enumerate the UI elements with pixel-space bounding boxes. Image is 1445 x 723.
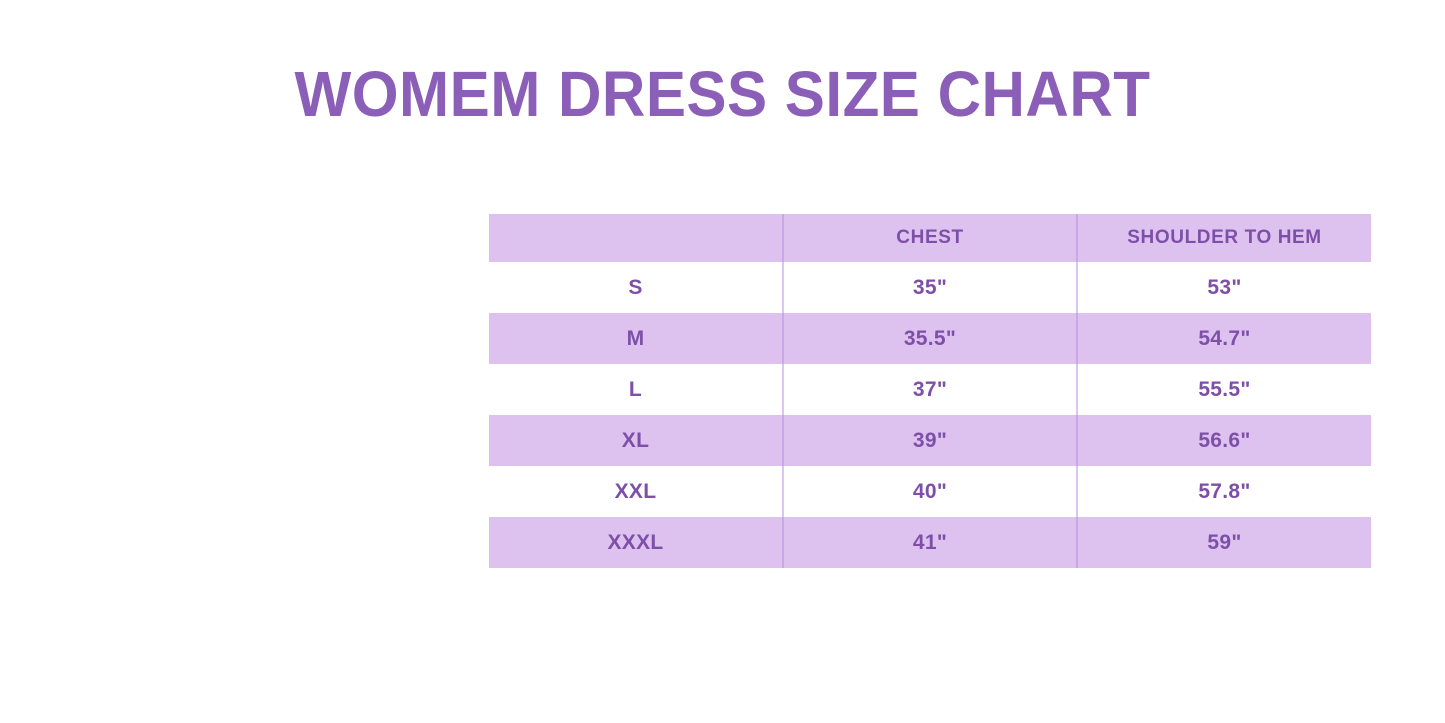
cell-shoulder-to-hem: 56.6" [1077, 415, 1371, 466]
cell-size: M [489, 313, 783, 364]
table-row: XL 39" 56.6" [489, 415, 1371, 466]
column-header-chest: CHEST [783, 214, 1077, 262]
cell-shoulder-to-hem: 55.5" [1077, 364, 1371, 415]
column-header-shoulder-to-hem: SHOULDER TO HEM [1077, 214, 1371, 262]
cell-size: XXXL [489, 517, 783, 568]
cell-size: XL [489, 415, 783, 466]
size-chart-table-container: CHEST SHOULDER TO HEM S 35" 53" M 35.5" … [489, 214, 1371, 568]
cell-chest: 39" [783, 415, 1077, 466]
cell-size: L [489, 364, 783, 415]
table-body: S 35" 53" M 35.5" 54.7" L 37" 55.5" XL 3… [489, 262, 1371, 568]
cell-chest: 41" [783, 517, 1077, 568]
cell-chest: 35" [783, 262, 1077, 313]
cell-chest: 40" [783, 466, 1077, 517]
cell-chest: 37" [783, 364, 1077, 415]
table-header: CHEST SHOULDER TO HEM [489, 214, 1371, 262]
size-chart-table: CHEST SHOULDER TO HEM S 35" 53" M 35.5" … [489, 214, 1371, 568]
table-row: XXXL 41" 59" [489, 517, 1371, 568]
table-row: L 37" 55.5" [489, 364, 1371, 415]
size-chart-page: WOMEM DRESS SIZE CHART CHEST SHOULDER TO… [0, 0, 1445, 723]
table-row: M 35.5" 54.7" [489, 313, 1371, 364]
table-row: S 35" 53" [489, 262, 1371, 313]
table-header-row: CHEST SHOULDER TO HEM [489, 214, 1371, 262]
cell-shoulder-to-hem: 57.8" [1077, 466, 1371, 517]
cell-size: XXL [489, 466, 783, 517]
page-title: WOMEM DRESS SIZE CHART [43, 58, 1401, 130]
cell-shoulder-to-hem: 59" [1077, 517, 1371, 568]
cell-shoulder-to-hem: 53" [1077, 262, 1371, 313]
cell-chest: 35.5" [783, 313, 1077, 364]
cell-size: S [489, 262, 783, 313]
cell-shoulder-to-hem: 54.7" [1077, 313, 1371, 364]
table-row: XXL 40" 57.8" [489, 466, 1371, 517]
column-header-size [489, 214, 783, 262]
